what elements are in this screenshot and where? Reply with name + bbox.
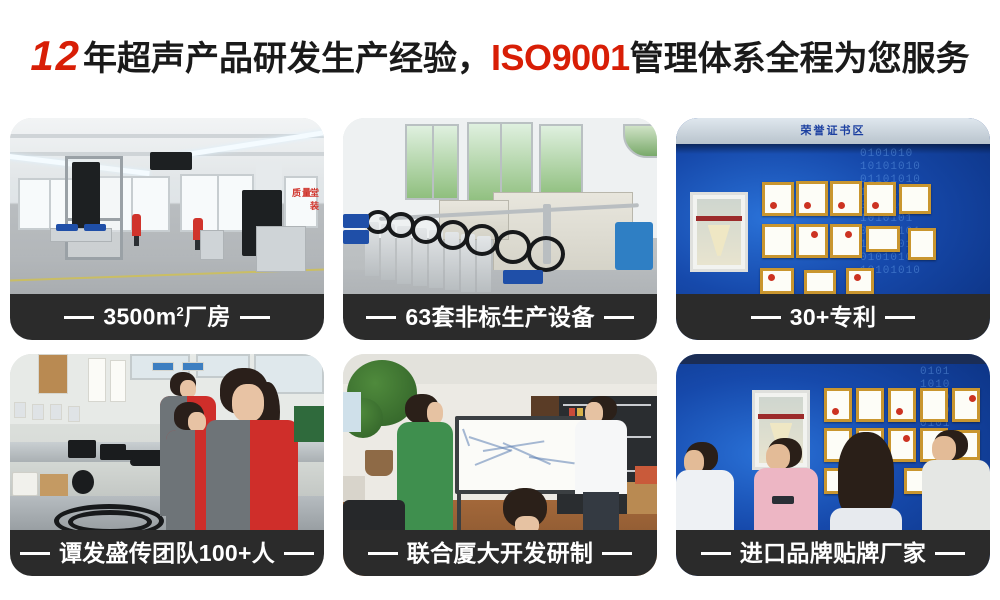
feature-card-grid: 质量 堂装 35	[10, 118, 990, 588]
feature-card-workshop[interactable]: 质量 堂装 35	[10, 118, 324, 340]
caption-rule-right	[885, 316, 915, 319]
promo-banner: 12年超声产品研发生产经验，ISO9001管理体系全程为您服务 质	[0, 0, 1000, 600]
headline-number: 12	[30, 35, 81, 77]
card-caption: 进口品牌贴牌厂家	[676, 530, 990, 576]
feature-card-rd[interactable]: 联合厦大开发研制	[343, 354, 657, 576]
headline-segment-1: 年超声产品研发生产经验，	[83, 42, 491, 76]
card-caption: 3500m2厂房	[10, 294, 324, 340]
caption-rule-left	[751, 316, 781, 319]
card-caption: 30+专利	[676, 294, 990, 340]
headline-iso-badge: ISO9001	[491, 40, 630, 76]
page-title: 12年超声产品研发生产经验，ISO9001管理体系全程为您服务	[0, 0, 1000, 112]
caption-text: 3500m2厂房	[103, 305, 230, 329]
caption-text: 谭发盛传团队100+人	[59, 542, 275, 565]
caption-rule-left	[701, 552, 731, 555]
caption-rule-right	[240, 316, 270, 319]
honor-wall-sign: 荣誉证书区	[801, 122, 866, 138]
headline-text: 12年超声产品研发生产经验，ISO9001管理体系全程为您服务	[30, 35, 969, 77]
card-caption: 63套非标生产设备	[343, 294, 657, 340]
caption-text: 30+专利	[790, 306, 877, 329]
feature-card-equipment[interactable]: 63套非标生产设备	[343, 118, 657, 340]
caption-text: 联合厦大开发研制	[407, 542, 593, 565]
caption-rule-right	[604, 316, 634, 319]
feature-card-patents[interactable]: 荣誉证书区 0101010101010100110101010101010010…	[676, 118, 990, 340]
caption-rule-left	[20, 552, 50, 555]
card-caption: 联合厦大开发研制	[343, 530, 657, 576]
caption-rule-right	[284, 552, 314, 555]
caption-rule-left	[64, 316, 94, 319]
headline-segment-2: 管理体系全程为您服务	[630, 42, 970, 76]
caption-rule-left	[368, 552, 398, 555]
caption-rule-right	[602, 552, 632, 555]
caption-rule-left	[366, 316, 396, 319]
caption-rule-right	[935, 552, 965, 555]
caption-text: 进口品牌贴牌厂家	[740, 542, 926, 565]
card-caption: 谭发盛传团队100+人	[10, 530, 324, 576]
caption-text: 63套非标生产设备	[405, 306, 594, 329]
feature-card-team[interactable]: 谭发盛传团队100+人	[10, 354, 324, 576]
feature-card-oem[interactable]: 010110100110101001011010	[676, 354, 990, 576]
